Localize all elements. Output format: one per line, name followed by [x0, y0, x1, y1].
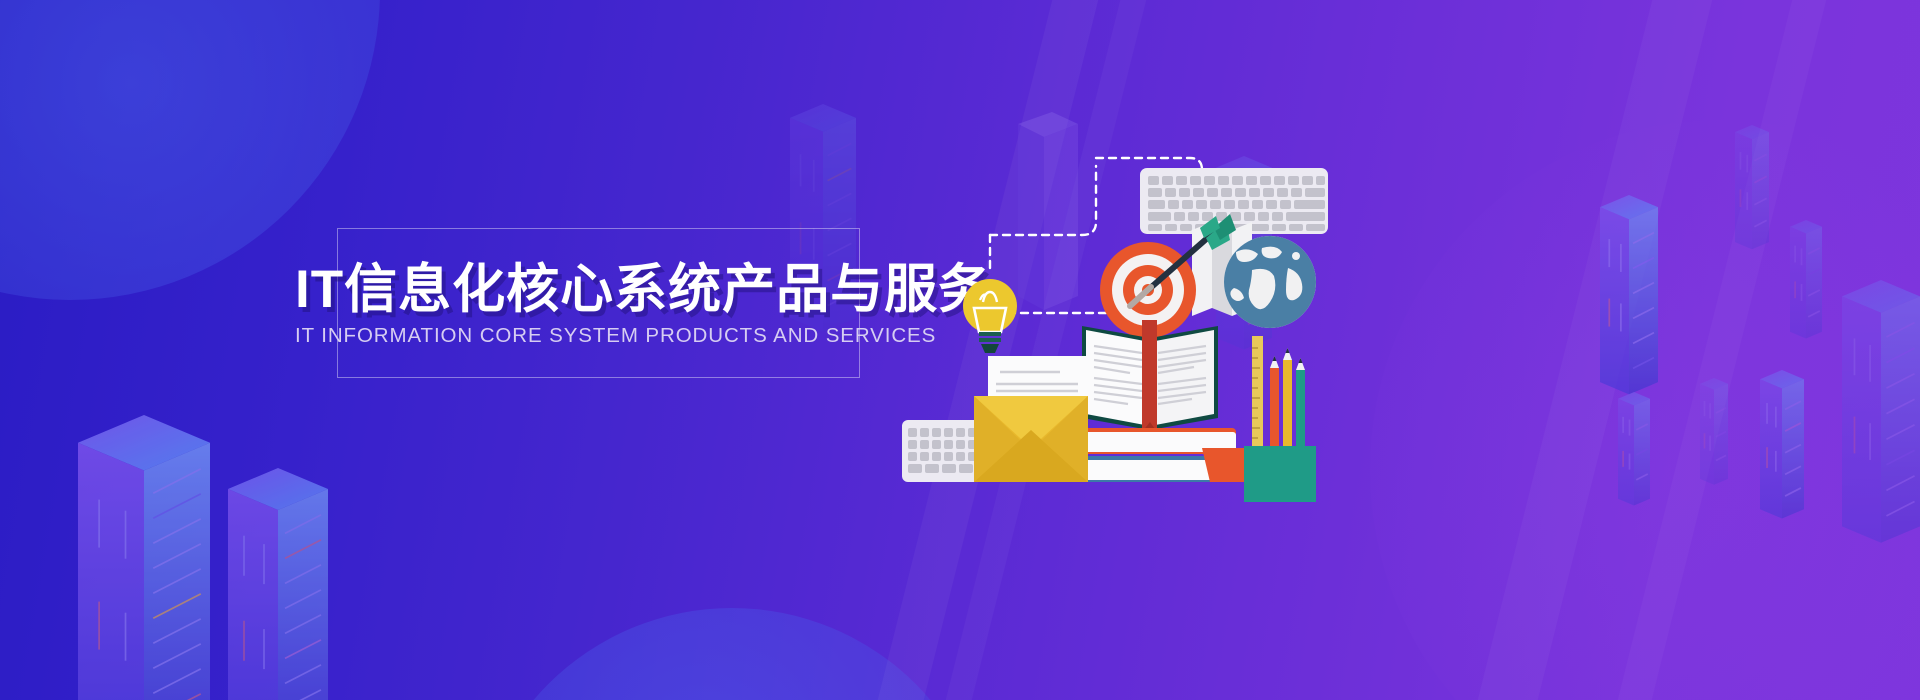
keyboard-large-icon — [1140, 168, 1328, 234]
pencil-holder-icon — [1244, 336, 1316, 502]
page-subtitle: IT INFORMATION CORE SYSTEM PRODUCTS AND … — [295, 324, 915, 348]
building-right-4 — [1760, 370, 1804, 518]
lightbulb-icon — [963, 279, 1017, 353]
building-left-short — [228, 468, 328, 700]
hero-banner: IT信息化核心系统产品与服务 IT INFORMATION CORE SYSTE… — [0, 0, 1920, 700]
building-right-3 — [1790, 220, 1822, 338]
building-right-5 — [1842, 280, 1920, 543]
pencils — [1270, 348, 1305, 456]
background-circle-top-left — [0, 0, 380, 300]
building-right-1 — [1600, 195, 1658, 394]
building-left-tall — [78, 415, 210, 700]
building-right-7 — [1700, 378, 1728, 485]
page-title: IT信息化核心系统产品与服务 — [295, 263, 915, 316]
open-book-icon — [1082, 320, 1218, 440]
envelope-icon — [974, 396, 1088, 482]
illustration-background-tower — [1018, 112, 1078, 310]
building-right-6 — [1618, 392, 1650, 505]
globe-icon — [1224, 236, 1316, 328]
it-desk-illustration — [900, 110, 1320, 480]
ruler-icon — [1252, 336, 1263, 456]
hero-text-block: IT信息化核心系统产品与服务 IT INFORMATION CORE SYSTE… — [337, 228, 860, 378]
building-right-2 — [1735, 125, 1769, 249]
